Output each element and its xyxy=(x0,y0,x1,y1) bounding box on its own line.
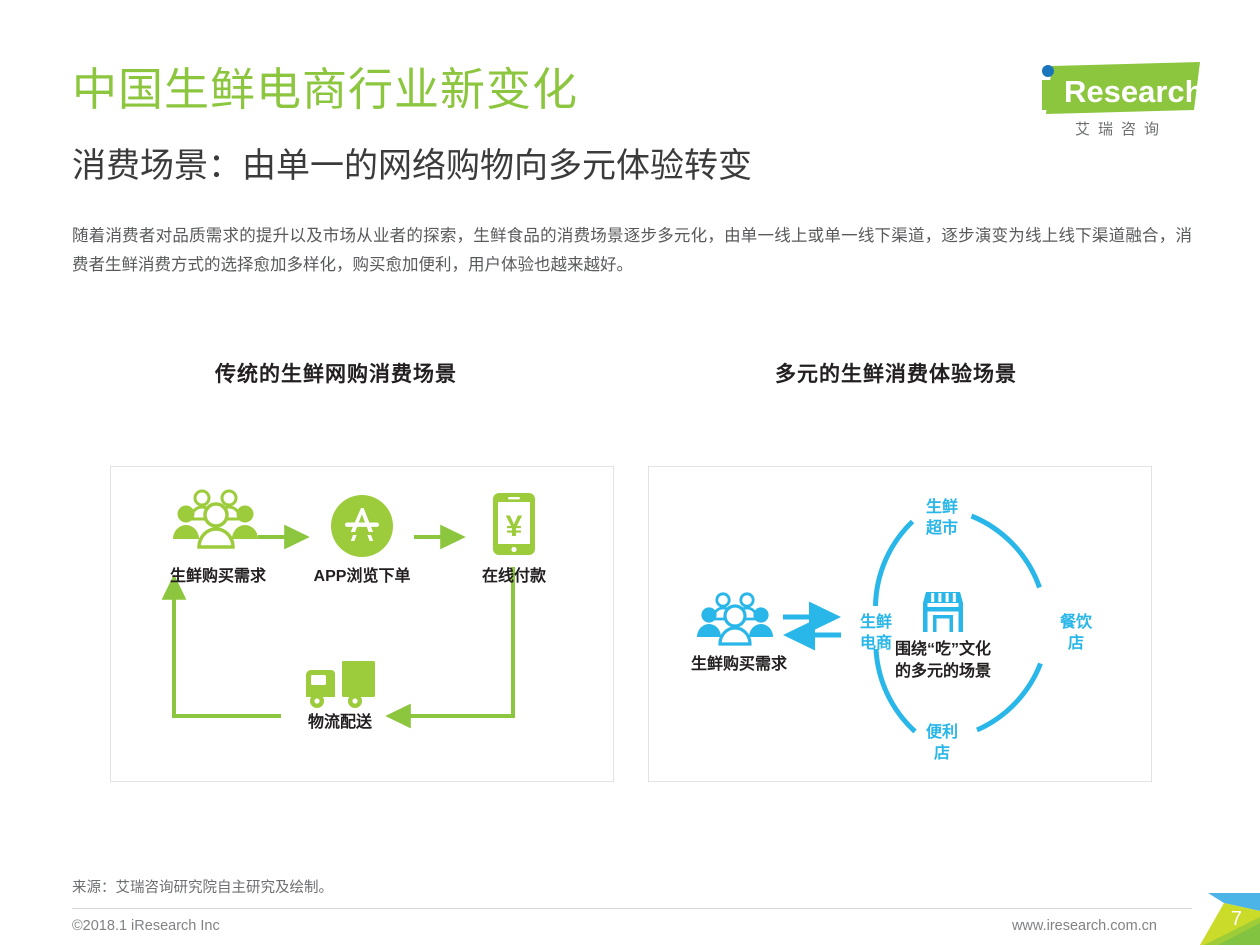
iresearch-logo: Research 艾瑞咨询 xyxy=(1034,62,1200,144)
svg-text:Research: Research xyxy=(1064,74,1200,109)
slide-page: 中国生鲜电商行业新变化 消费场景：由单一的网络购物向多元体验转变 随着消费者对品… xyxy=(0,0,1260,945)
app-store-icon xyxy=(331,495,393,557)
section-heading-traditional: 传统的生鲜网购消费场景 xyxy=(215,358,457,388)
ring-node-supermarket-line1: 生鲜 xyxy=(911,497,973,518)
people-group-icon xyxy=(697,592,777,646)
traditional-scenario-panel: 生鲜购买需求 APP浏览下单 ¥ xyxy=(110,466,614,782)
page-number: 7 xyxy=(1231,908,1242,931)
ring-node-convenience-store: 便利 店 xyxy=(911,722,973,764)
logo-chinese-text: 艾瑞咨询 xyxy=(1034,118,1200,139)
ring-node-supermarket: 生鲜 超市 xyxy=(911,497,973,539)
left-node-label-app: APP浏览下单 xyxy=(286,567,438,587)
corner-decoration xyxy=(1174,893,1260,945)
ring-node-ecommerce-line1: 生鲜 xyxy=(845,612,907,633)
ring-node-restaurant: 餐饮 店 xyxy=(1045,612,1107,654)
source-note: 来源：艾瑞咨询研究院自主研究及绘制。 xyxy=(72,876,333,897)
page-subtitle: 消费场景：由单一的网络购物向多元体验转变 xyxy=(72,146,752,187)
website-url[interactable]: www.iresearch.com.cn xyxy=(1012,918,1157,934)
right-node-label-demand: 生鲜购买需求 xyxy=(659,655,819,675)
mobile-payment-icon: ¥ xyxy=(491,491,537,557)
intro-paragraph: 随着消费者对品质需求的提升以及市场从业者的探索，生鲜食品的消费场景逐步多元化，由… xyxy=(72,222,1192,280)
people-group-icon xyxy=(173,489,263,549)
left-node-label-demand: 生鲜购买需求 xyxy=(128,567,308,587)
ring-node-convenience-store-line2: 店 xyxy=(911,743,973,764)
left-node-label-payment: 在线付款 xyxy=(454,567,574,587)
storefront-icon xyxy=(923,590,963,632)
center-caption-line2: 的多元的场景 xyxy=(867,661,1019,683)
footer-divider xyxy=(72,908,1192,909)
logo-mark: Research xyxy=(1034,62,1200,114)
delivery-truck-icon xyxy=(304,659,376,709)
ring-node-supermarket-line2: 超市 xyxy=(911,518,973,539)
page-title: 中国生鲜电商行业新变化 xyxy=(72,64,578,116)
ring-node-restaurant-line1: 餐饮 xyxy=(1045,612,1107,633)
section-heading-diverse: 多元的生鲜消费体验场景 xyxy=(775,358,1017,388)
center-caption-line1: 围绕“吃”文化 xyxy=(867,639,1019,661)
copyright-text: ©2018.1 iResearch Inc xyxy=(72,918,220,934)
left-node-label-logistics: 物流配送 xyxy=(280,713,400,733)
logo-dot-icon xyxy=(1042,65,1054,77)
logo-plate-svg: Research xyxy=(1034,62,1200,114)
diverse-scenario-panel: 生鲜购买需求 生鲜 电商 生鲜 超市 餐饮 店 便利 店 xyxy=(648,466,1152,782)
svg-text:¥: ¥ xyxy=(506,510,523,543)
ring-node-convenience-store-line1: 便利 xyxy=(911,722,973,743)
center-caption: 围绕“吃”文化 的多元的场景 xyxy=(867,639,1019,683)
ring-node-restaurant-line2: 店 xyxy=(1045,633,1107,654)
